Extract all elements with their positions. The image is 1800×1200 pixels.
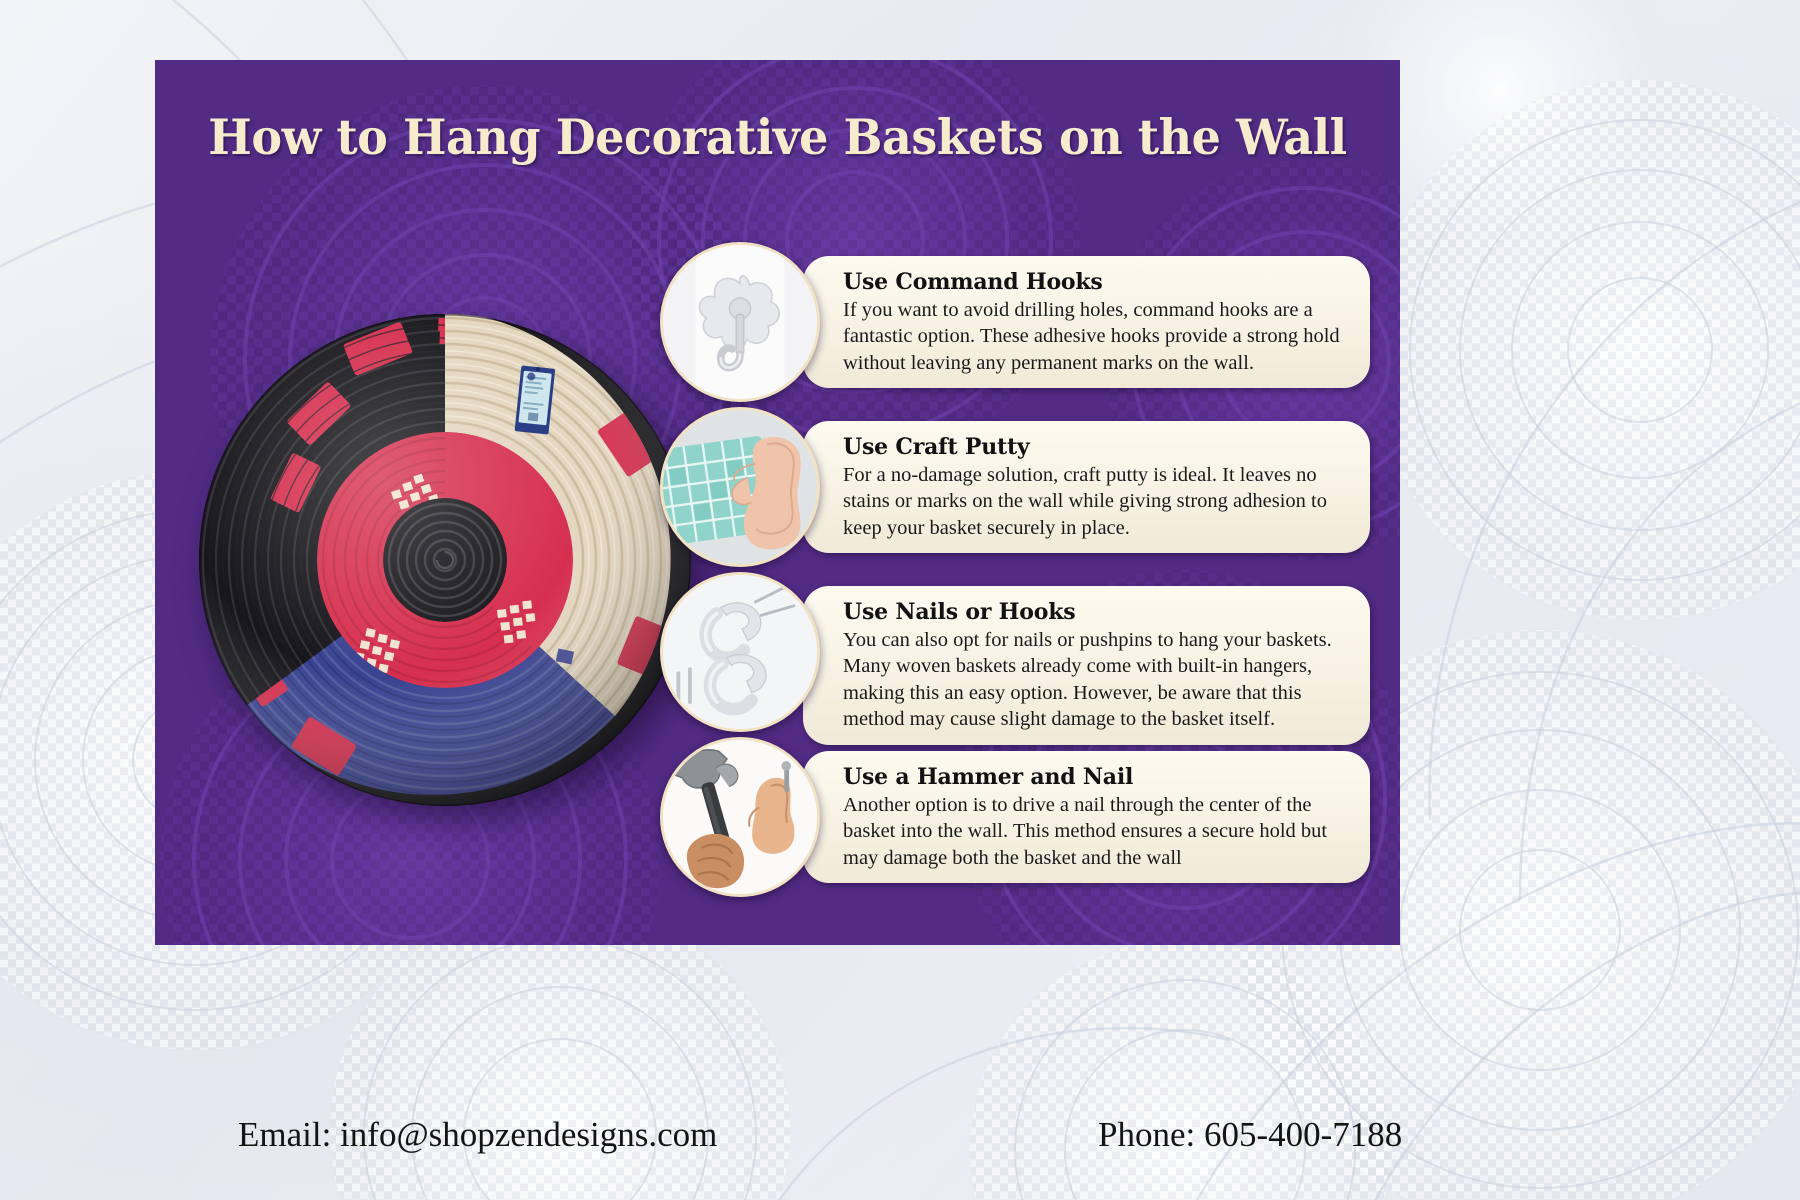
craft-putty-icon: [660, 407, 820, 567]
step-card[interactable]: Use Command Hooks If you want to avoid d…: [803, 256, 1370, 388]
step-body: You can also opt for nails or pushpins t…: [843, 627, 1344, 733]
step-card[interactable]: Use Nails or Hooks You can also opt for …: [803, 586, 1370, 745]
poster-panel: How to Hang Decorative Baskets on the Wa…: [155, 60, 1400, 945]
step-body: Another option is to drive a nail throug…: [843, 792, 1344, 871]
step-title: Use a Hammer and Nail: [843, 764, 1344, 791]
step-title: Use Craft Putty: [843, 434, 1344, 461]
steps-list: Use Command Hooks If you want to avoid d…: [660, 242, 1380, 899]
step-item: Use a Hammer and Nail Another option is …: [660, 737, 1380, 899]
step-card[interactable]: Use a Hammer and Nail Another option is …: [803, 751, 1370, 883]
basket-image: [195, 310, 695, 810]
footer-phone[interactable]: Phone: 605-400-7188: [1098, 1115, 1402, 1155]
step-item: Use Command Hooks If you want to avoid d…: [660, 242, 1380, 404]
footer: Email: info@shopzendesigns.com Phone: 60…: [0, 1115, 1800, 1175]
page-title: How to Hang Decorative Baskets on the Wa…: [192, 108, 1362, 166]
step-item: Use Craft Putty For a no-damage solution…: [660, 407, 1380, 569]
step-title: Use Command Hooks: [843, 269, 1344, 296]
command-hook-icon: [660, 242, 820, 402]
step-item: Use Nails or Hooks You can also opt for …: [660, 572, 1380, 734]
step-card[interactable]: Use Craft Putty For a no-damage solution…: [803, 421, 1370, 553]
hang-tag-icon: [513, 361, 556, 436]
hammer-nail-icon: [660, 737, 820, 897]
step-body: For a no-damage solution, craft putty is…: [843, 462, 1344, 541]
woven-basket-graphic: [195, 310, 695, 810]
footer-email[interactable]: Email: info@shopzendesigns.com: [238, 1115, 717, 1155]
step-title: Use Nails or Hooks: [843, 599, 1344, 626]
step-body: If you want to avoid drilling holes, com…: [843, 297, 1344, 376]
nails-hooks-icon: [660, 572, 820, 732]
